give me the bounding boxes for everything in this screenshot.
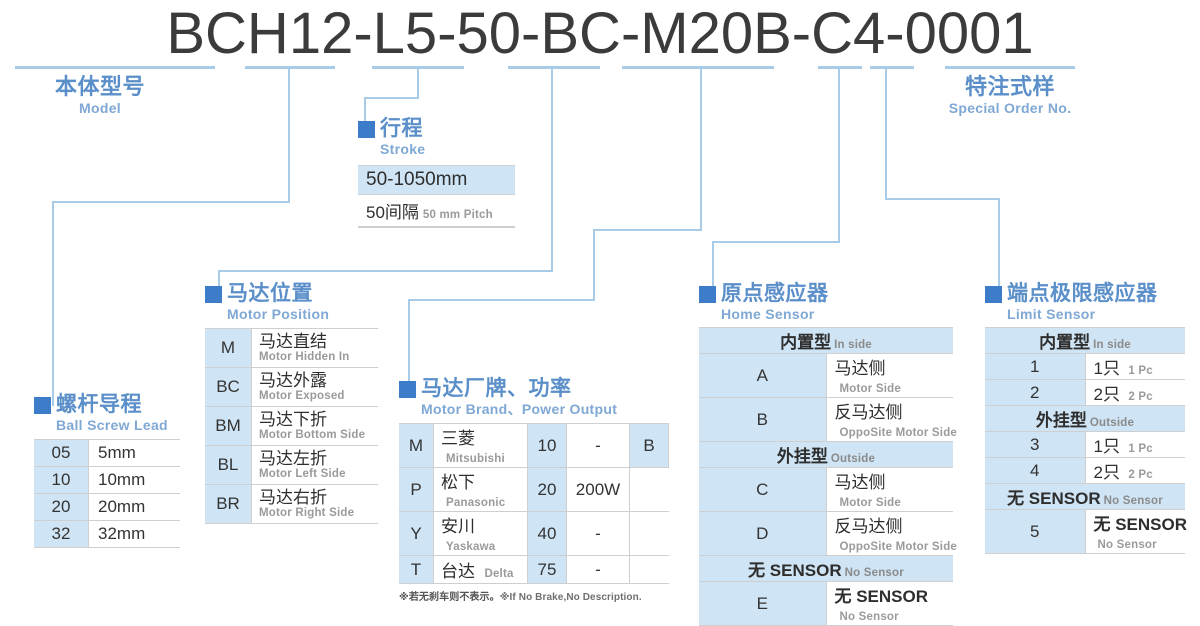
home-desc-cn: 无 SENSOR	[835, 587, 929, 606]
home-code: C	[699, 468, 826, 512]
motorpos-desc: 马达右折 Motor Right Side	[252, 485, 379, 524]
motorpos-code: BL	[205, 446, 252, 485]
model-dash-3: -	[521, 0, 540, 67]
underline-homesensor	[818, 66, 862, 69]
brand-code: T	[399, 556, 434, 584]
power-code: 20	[528, 468, 567, 512]
home-desc: 马达侧 Motor Side	[826, 354, 953, 398]
section-lead-title-cn: 螺杆导程	[56, 394, 142, 415]
leader-homesensor-v2	[712, 241, 714, 287]
lead-value: 5mm	[89, 440, 181, 467]
limit-code: 2	[985, 380, 1085, 406]
table-row: 05 5mm	[34, 440, 180, 467]
section-lead-title-en: Ball Screw Lead	[56, 417, 180, 433]
brake-code	[630, 468, 669, 512]
home-sensor-table: 内置型In side A 马达侧 Motor Side B 反马达侧 OppoS…	[699, 327, 953, 626]
home-code: D	[699, 512, 826, 556]
limit-group-header-en: In side	[1093, 339, 1131, 351]
model-part-limitsensor: 4	[853, 0, 885, 67]
section-ball-screw-lead: 螺杆导程 Ball Screw Lead 05 5mm 10 10mm 20 2…	[34, 394, 180, 548]
limit-group-header-cn: 外挂型	[1036, 411, 1087, 430]
bullet-square-icon	[699, 286, 716, 303]
power-code: 40	[528, 512, 567, 556]
section-stroke-title-en: Stroke	[380, 141, 515, 157]
section-motor-position: 马达位置 Motor Position M 马达直结 Motor Hidden …	[205, 283, 378, 524]
limit-group-header-en: No Sensor	[1104, 495, 1163, 507]
limit-desc-en: 2 Pc	[1128, 391, 1152, 403]
table-row: BR 马达右折 Motor Right Side	[205, 485, 378, 524]
group-header-row: 外挂型Outside	[699, 442, 953, 468]
limit-desc-en: 1 Pc	[1128, 443, 1152, 455]
section-limitsensor-title-en: Limit Sensor	[1007, 306, 1185, 322]
home-group-header-cn: 内置型	[780, 333, 831, 352]
home-desc-en: OppoSite Motor Side	[840, 541, 958, 553]
lead-value: 20mm	[89, 494, 181, 521]
section-model-title-en: Model	[55, 100, 145, 116]
table-row: A 马达侧 Motor Side	[699, 354, 953, 398]
home-group-header-en: In side	[834, 339, 872, 351]
motorpos-code: BM	[205, 407, 252, 446]
section-special-order: 特注式样 Special Order No.	[940, 76, 1080, 116]
brake-code: B	[630, 424, 669, 468]
underline-lead	[245, 66, 335, 69]
limit-desc-en: 1 Pc	[1128, 365, 1152, 377]
table-row: M 马达直结 Motor Hidden In	[205, 329, 378, 368]
motorpos-desc: 马达左折 Motor Left Side	[252, 446, 379, 485]
leader-lead-h1	[52, 201, 290, 203]
model-dash-4: -	[621, 0, 640, 67]
lead-value: 10mm	[89, 467, 181, 494]
model-part-motorbrand: M20B	[640, 0, 792, 67]
home-desc-cn: 反马达侧	[835, 517, 903, 536]
limit-code: 1	[985, 354, 1085, 380]
motorpos-desc: 马达直结 Motor Hidden In	[252, 329, 379, 368]
table-row: 10 10mm	[34, 467, 180, 494]
limit-group-header: 内置型In side	[985, 328, 1185, 354]
stroke-table: 50-1050mm 50间隔50 mm Pitch	[358, 165, 515, 228]
leader-limitsensor-v2	[998, 198, 1000, 288]
section-stroke-heading: 行程	[358, 118, 515, 139]
leader-lead-v1	[288, 66, 290, 203]
section-specialorder-title-cn: 特注式样	[940, 76, 1080, 97]
table-row: 20 20mm	[34, 494, 180, 521]
table-row: 5 无 SENSOR No Sensor	[985, 510, 1185, 554]
motorpos-desc: 马达下折 Motor Bottom Side	[252, 407, 379, 446]
motorpos-desc-en: Motor Bottom Side	[259, 429, 374, 442]
limit-desc: 2只 2 Pc	[1085, 458, 1185, 484]
motorpos-code: M	[205, 329, 252, 368]
group-header-row: 无 SENSORNo Sensor	[699, 556, 953, 582]
underline-specialorder	[945, 66, 1075, 69]
limit-code: 4	[985, 458, 1085, 484]
brand-code: M	[399, 424, 434, 468]
motorpos-desc-cn: 马达直结	[259, 332, 374, 351]
motorpos-code: BC	[205, 368, 252, 407]
limit-group-header-cn: 内置型	[1039, 333, 1090, 352]
group-header-row: 内置型In side	[985, 328, 1185, 354]
brand-name: 安川 Yaskawa	[434, 512, 528, 556]
limit-desc-cn: 1只	[1094, 359, 1120, 378]
motor-position-table: M 马达直结 Motor Hidden In BC 马达外露 Motor Exp…	[205, 328, 378, 524]
limit-desc-cn: 2只	[1094, 385, 1120, 404]
home-desc-en: Motor Side	[840, 383, 901, 395]
lead-code: 20	[34, 494, 89, 521]
model-part-homesensor: C	[811, 0, 853, 67]
power-code: 75	[528, 556, 567, 584]
table-row: C 马达侧 Motor Side	[699, 468, 953, 512]
bullet-square-icon	[358, 121, 375, 138]
power-value: -	[567, 512, 630, 556]
leader-lead-v2	[52, 201, 54, 406]
motorpos-desc-cn: 马达外露	[259, 371, 374, 390]
motor-brand-note-en: ※If No Brake,No Description.	[500, 592, 642, 603]
section-motorbrand-title-cn: 马达厂牌、功率	[421, 378, 572, 399]
leader-motorbrand-h1	[593, 229, 702, 231]
brake-code	[630, 512, 669, 556]
lead-code: 05	[34, 440, 89, 467]
limit-desc: 1只 1 Pc	[1085, 354, 1185, 380]
bullet-square-icon	[399, 381, 416, 398]
table-row: 32 32mm	[34, 521, 180, 548]
leader-stroke-h1	[364, 97, 419, 99]
brand-name-cn: 台达	[441, 562, 475, 581]
leader-motorbrand-v1	[700, 66, 702, 231]
table-row: 4 2只 2 Pc	[985, 458, 1185, 484]
leader-limitsensor-v1	[885, 66, 887, 200]
bullet-square-icon	[205, 286, 222, 303]
home-code: B	[699, 398, 826, 442]
section-motorbrand-heading: 马达厂牌、功率	[399, 378, 669, 399]
limit-desc-cn: 无 SENSOR	[1094, 515, 1188, 534]
underline-body	[15, 66, 215, 69]
limit-group-header: 无 SENSORNo Sensor	[985, 484, 1185, 510]
home-desc-en: Motor Side	[840, 497, 901, 509]
model-part-motorpos: BC	[540, 0, 621, 67]
model-part-body: BCH12	[166, 0, 353, 67]
table-row: B 反马达侧 OppoSite Motor Side	[699, 398, 953, 442]
home-desc: 无 SENSOR No Sensor	[826, 582, 953, 626]
limit-desc-cn: 2只	[1094, 463, 1120, 482]
stroke-pitch-cn: 50间隔	[366, 203, 419, 222]
brand-name-cn: 三菱	[441, 429, 475, 448]
ball-screw-lead-table: 05 5mm 10 10mm 20 20mm 32 32mm	[34, 439, 180, 548]
motorpos-desc-en: Motor Exposed	[259, 390, 374, 403]
model-dash-5: -	[792, 0, 811, 67]
home-desc: 反马达侧 OppoSite Motor Side	[826, 398, 953, 442]
power-value: 200W	[567, 468, 630, 512]
leader-limitsensor-h1	[885, 198, 1000, 200]
brand-name: 松下 Panasonic	[434, 468, 528, 512]
table-row: D 反马达侧 OppoSite Motor Side	[699, 512, 953, 556]
brand-name: 三菱 Mitsubishi	[434, 424, 528, 468]
model-dash-1: -	[353, 0, 372, 67]
leader-motorpos-h1	[218, 270, 553, 272]
section-homesensor-heading: 原点感应器	[699, 283, 953, 304]
power-value: -	[567, 556, 630, 584]
brand-name: 台达 Delta	[434, 556, 528, 584]
power-code: 10	[528, 424, 567, 468]
home-desc-en: No Sensor	[840, 611, 899, 623]
leader-homesensor-v1	[838, 66, 840, 243]
section-motor-brand: 马达厂牌、功率 Motor Brand、Power Output M 三菱 Mi…	[399, 378, 669, 603]
home-group-header-cn: 外挂型	[777, 447, 828, 466]
limit-desc-en: 2 Pc	[1128, 469, 1152, 481]
brand-name-en: Panasonic	[446, 497, 505, 509]
model-part-lead: L5	[373, 0, 438, 67]
section-motorpos-title-en: Motor Position	[227, 306, 378, 322]
section-stroke-title-cn: 行程	[380, 118, 423, 139]
motorpos-desc-en: Motor Right Side	[259, 507, 374, 520]
home-desc-cn: 马达侧	[835, 473, 886, 492]
section-homesensor-title-en: Home Sensor	[721, 306, 953, 322]
table-row: BL 马达左折 Motor Left Side	[205, 446, 378, 485]
home-desc-en: OppoSite Motor Side	[840, 427, 958, 439]
leader-motorbrand-h2	[408, 299, 595, 301]
leader-homesensor-h1	[712, 241, 840, 243]
section-lead-heading: 螺杆导程	[34, 394, 180, 415]
brand-name-en: Mitsubishi	[446, 453, 505, 465]
motorpos-desc-cn: 马达右折	[259, 488, 374, 507]
home-group-header: 无 SENSORNo Sensor	[699, 556, 953, 582]
section-stroke: 行程 Stroke 50-1050mm 50间隔50 mm Pitch	[358, 118, 515, 228]
motorpos-desc-en: Motor Left Side	[259, 468, 374, 481]
section-limit-sensor: 端点极限感应器 Limit Sensor 内置型In side 1 1只 1 P…	[985, 283, 1185, 554]
limit-desc-cn: 1只	[1094, 437, 1120, 456]
bullet-square-icon	[34, 397, 51, 414]
underline-motorpos	[508, 66, 600, 69]
home-group-header-en: No Sensor	[845, 567, 904, 579]
motorpos-desc-en: Motor Hidden In	[259, 351, 374, 364]
limit-group-header-en: Outside	[1090, 417, 1134, 429]
brand-code: P	[399, 468, 434, 512]
motorpos-code: BR	[205, 485, 252, 524]
table-row: M 三菱 Mitsubishi 10 - B	[399, 424, 669, 468]
model-dash-6: -	[885, 0, 904, 67]
brand-name-en: Yaskawa	[446, 541, 495, 553]
leader-motorbrand-v3	[408, 299, 410, 383]
leader-motorpos-v1	[551, 66, 553, 272]
home-group-header-cn: 无 SENSOR	[748, 561, 842, 580]
table-row: P 松下 Panasonic 20 200W	[399, 468, 669, 512]
brand-name-cn: 松下	[441, 473, 475, 492]
model-part-stroke: 50	[457, 0, 522, 67]
leader-motorbrand-v2	[593, 229, 595, 301]
home-desc: 马达侧 Motor Side	[826, 468, 953, 512]
section-limitsensor-title-cn: 端点极限感应器	[1007, 283, 1158, 304]
underline-motorbrand	[622, 66, 774, 69]
limit-group-header-cn: 无 SENSOR	[1007, 489, 1101, 508]
home-code: E	[699, 582, 826, 626]
motor-brand-note: ※若无刹车则不表示。※If No Brake,No Description.	[399, 588, 669, 603]
home-desc: 反马达侧 OppoSite Motor Side	[826, 512, 953, 556]
brand-name-cn: 安川	[441, 517, 475, 536]
model-part-specialorder: 0001	[905, 0, 1034, 67]
section-model: 本体型号 Model	[55, 76, 145, 116]
home-desc-cn: 反马达侧	[835, 403, 903, 422]
home-code: A	[699, 354, 826, 398]
limit-group-header: 外挂型Outside	[985, 406, 1185, 432]
stroke-pitch: 50间隔50 mm Pitch	[358, 195, 515, 227]
limit-sensor-table: 内置型In side 1 1只 1 Pc 2 2只 2 Pc 外挂型Outsid…	[985, 327, 1185, 554]
underline-limitsensor	[870, 66, 914, 69]
limit-desc: 2只 2 Pc	[1085, 380, 1185, 406]
model-number: BCH12 - L5 - 50 - BC - M20B - C 4 - 0001	[0, 2, 1200, 64]
home-desc-cn: 马达侧	[835, 359, 886, 378]
section-model-title-cn: 本体型号	[55, 76, 145, 97]
limit-desc: 无 SENSOR No Sensor	[1085, 510, 1185, 554]
home-group-header: 外挂型Outside	[699, 442, 953, 468]
section-motorpos-title-cn: 马达位置	[227, 283, 313, 304]
section-specialorder-title-en: Special Order No.	[940, 100, 1080, 116]
motorpos-desc-cn: 马达左折	[259, 449, 374, 468]
table-row: E 无 SENSOR No Sensor	[699, 582, 953, 626]
lead-value: 32mm	[89, 521, 181, 548]
motorpos-desc: 马达外露 Motor Exposed	[252, 368, 379, 407]
table-row: T 台达 Delta 75 -	[399, 556, 669, 584]
limit-code: 3	[985, 432, 1085, 458]
table-row: Y 安川 Yaskawa 40 -	[399, 512, 669, 556]
table-row: 2 2只 2 Pc	[985, 380, 1185, 406]
motor-brand-note-cn: ※若无刹车则不表示。	[399, 592, 500, 603]
brand-name-en: Delta	[484, 568, 513, 580]
table-row: 3 1只 1 Pc	[985, 432, 1185, 458]
table-row: BC 马达外露 Motor Exposed	[205, 368, 378, 407]
limit-desc-en: No Sensor	[1098, 539, 1157, 551]
limit-desc: 1只 1 Pc	[1085, 432, 1185, 458]
section-homesensor-title-cn: 原点感应器	[721, 283, 829, 304]
section-motorbrand-title-en: Motor Brand、Power Output	[421, 401, 669, 417]
section-limitsensor-heading: 端点极限感应器	[985, 283, 1185, 304]
leader-stroke-v1	[417, 66, 419, 98]
home-group-header: 内置型In side	[699, 328, 953, 354]
motorpos-desc-cn: 马达下折	[259, 410, 374, 429]
stroke-range: 50-1050mm	[358, 166, 515, 195]
home-group-header-en: Outside	[831, 453, 875, 465]
lead-code: 10	[34, 467, 89, 494]
stroke-pitch-en: 50 mm Pitch	[423, 209, 493, 221]
brake-code	[630, 556, 669, 584]
brand-code: Y	[399, 512, 434, 556]
power-value: -	[567, 424, 630, 468]
limit-code: 5	[985, 510, 1085, 554]
motor-brand-table: M 三菱 Mitsubishi 10 - B P 松下 Panasonic 20…	[399, 423, 669, 584]
group-header-row: 无 SENSORNo Sensor	[985, 484, 1185, 510]
table-row: BM 马达下折 Motor Bottom Side	[205, 407, 378, 446]
section-motorpos-heading: 马达位置	[205, 283, 378, 304]
lead-code: 32	[34, 521, 89, 548]
table-row: 1 1只 1 Pc	[985, 354, 1185, 380]
model-dash-2: -	[437, 0, 456, 67]
group-header-row: 外挂型Outside	[985, 406, 1185, 432]
bullet-square-icon	[985, 286, 1002, 303]
group-header-row: 内置型In side	[699, 328, 953, 354]
